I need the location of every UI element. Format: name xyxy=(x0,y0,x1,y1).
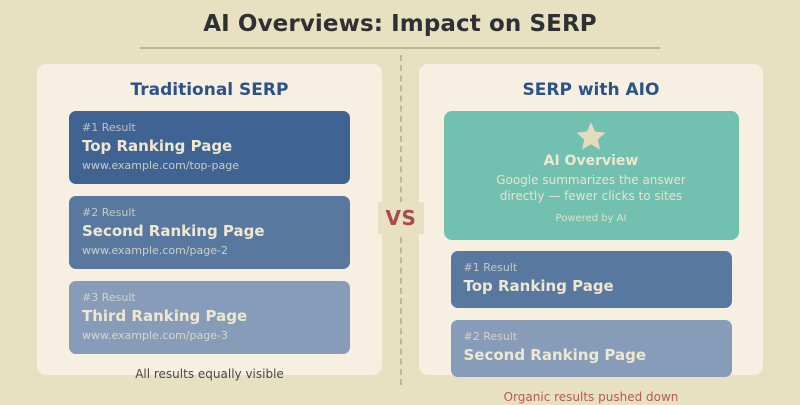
result-title: Second Ranking Page xyxy=(464,346,719,365)
result-label: #1 Result xyxy=(464,261,719,275)
result-url: www.example.com/top-page xyxy=(82,158,337,173)
vs-badge: VS xyxy=(378,202,424,234)
result-title: Third Ranking Page xyxy=(82,307,337,326)
result-label: #2 Result xyxy=(464,330,719,344)
page-title: AI Overviews: Impact on SERP xyxy=(0,10,800,38)
result-card-2[interactable]: #2 Result Second Ranking Page www.exampl… xyxy=(69,196,350,269)
aio-result-card-2[interactable]: #2 Result Second Ranking Page xyxy=(451,320,732,377)
result-card-3[interactable]: #3 Result Third Ranking Page www.example… xyxy=(69,281,350,354)
result-label: #2 Result xyxy=(82,206,337,220)
traditional-serp-panel: Traditional SERP #1 Result Top Ranking P… xyxy=(37,64,382,375)
serp-with-aio-panel: SERP with AIO AI Overview Google summari… xyxy=(419,64,763,375)
star-icon xyxy=(576,122,606,151)
result-url: www.example.com/page-3 xyxy=(82,328,337,343)
traditional-serp-caption: All results equally visible xyxy=(37,366,382,382)
result-title: Second Ranking Page xyxy=(82,222,337,241)
result-title: Top Ranking Page xyxy=(464,277,719,296)
result-url: www.example.com/page-2 xyxy=(82,243,337,258)
serp-with-aio-caption: Organic results pushed down xyxy=(419,389,763,405)
serp-with-aio-results: AI Overview Google summarizes the answer… xyxy=(419,111,763,377)
aio-result-card-1[interactable]: #1 Result Top Ranking Page xyxy=(451,251,732,308)
ai-overview-title: AI Overview xyxy=(458,152,725,170)
result-label: #1 Result xyxy=(82,121,337,135)
traditional-serp-heading: Traditional SERP xyxy=(37,79,382,101)
ai-overview-description-line-2: directly — fewer clicks to sites xyxy=(458,188,725,204)
result-title: Top Ranking Page xyxy=(82,137,337,156)
serp-with-aio-heading: SERP with AIO xyxy=(419,79,763,101)
ai-overview-footer: Powered by AI xyxy=(458,212,725,226)
traditional-serp-results: #1 Result Top Ranking Page www.example.c… xyxy=(37,111,382,354)
title-block: AI Overviews: Impact on SERP xyxy=(0,10,800,49)
title-divider xyxy=(140,47,660,49)
result-label: #3 Result xyxy=(82,291,337,305)
result-card-1[interactable]: #1 Result Top Ranking Page www.example.c… xyxy=(69,111,350,184)
ai-overview-card[interactable]: AI Overview Google summarizes the answer… xyxy=(444,111,739,240)
ai-overview-description-line-1: Google summarizes the answer xyxy=(458,172,725,188)
